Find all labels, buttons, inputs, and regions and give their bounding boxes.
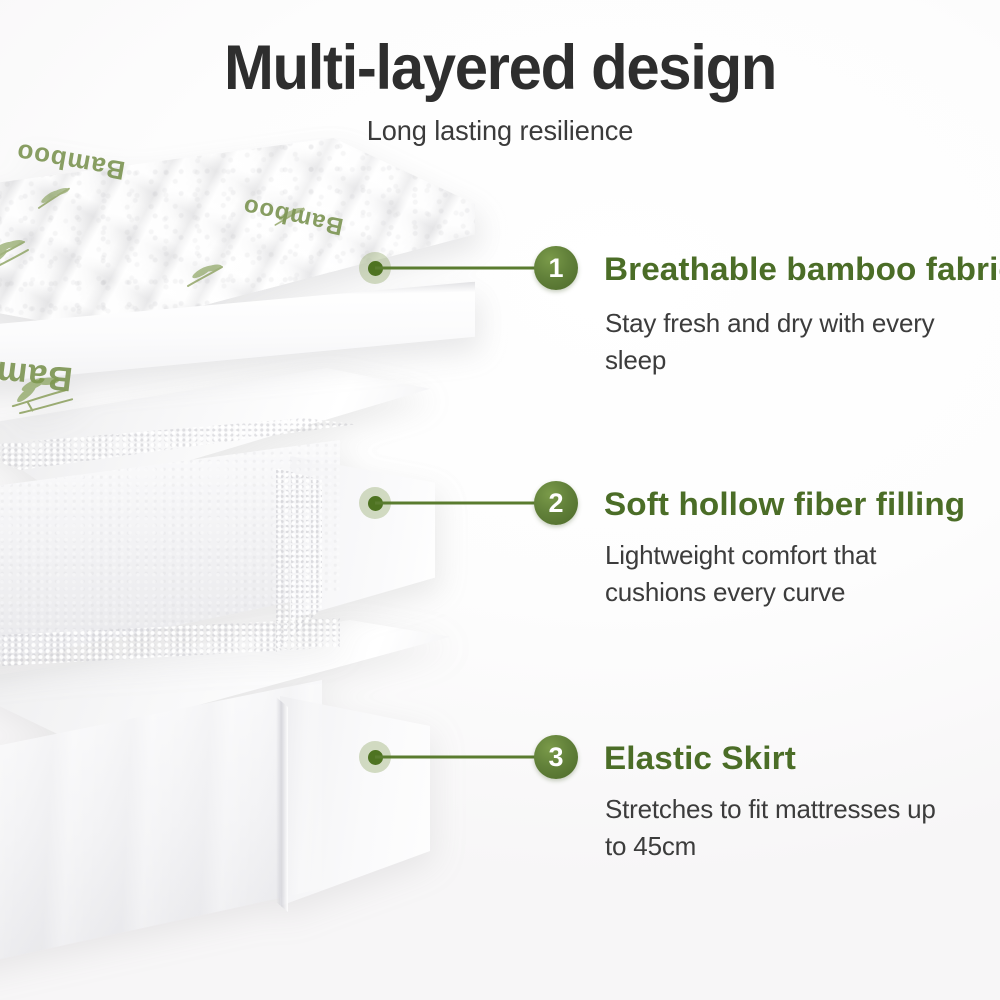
page-title: Multi-layered design	[25, 33, 975, 103]
callout-heading-2: Soft hollow fiber filling	[604, 485, 965, 523]
callout-heading-3: Elastic Skirt	[604, 739, 796, 777]
callout-body-2: Lightweight comfort that cushions every …	[605, 537, 940, 611]
callout-number-badge-3[interactable]: 3	[534, 735, 578, 779]
product-image: Bamboo Bamboo Bamboo	[0, 140, 530, 970]
bamboo-leaf-icon	[0, 232, 42, 276]
bamboo-leaf-icon	[30, 179, 83, 218]
callout-connector-line-1	[375, 267, 555, 270]
callout-body-1: Stay fresh and dry with every sleep	[605, 305, 935, 379]
skirt-corner-edge	[276, 692, 288, 942]
bamboo-leaf-icon	[3, 363, 88, 433]
callout-number-badge-1[interactable]: 1	[534, 246, 578, 290]
callout-connector-line-2	[375, 502, 555, 505]
callout-heading-1: Breathable bamboo fabric	[604, 250, 1000, 288]
callout-number-badge-2[interactable]: 2	[534, 481, 578, 525]
bamboo-leaf-icon	[182, 258, 236, 298]
callout-connector-line-3	[375, 756, 555, 759]
callout-body-3: Stretches to fit mattresses up to 45cm	[605, 791, 945, 865]
infographic-canvas: Multi-layered design Long lasting resili…	[0, 0, 1000, 1000]
product-layer-bamboo-topper: Bamboo Bamboo Bamboo	[0, 140, 490, 440]
